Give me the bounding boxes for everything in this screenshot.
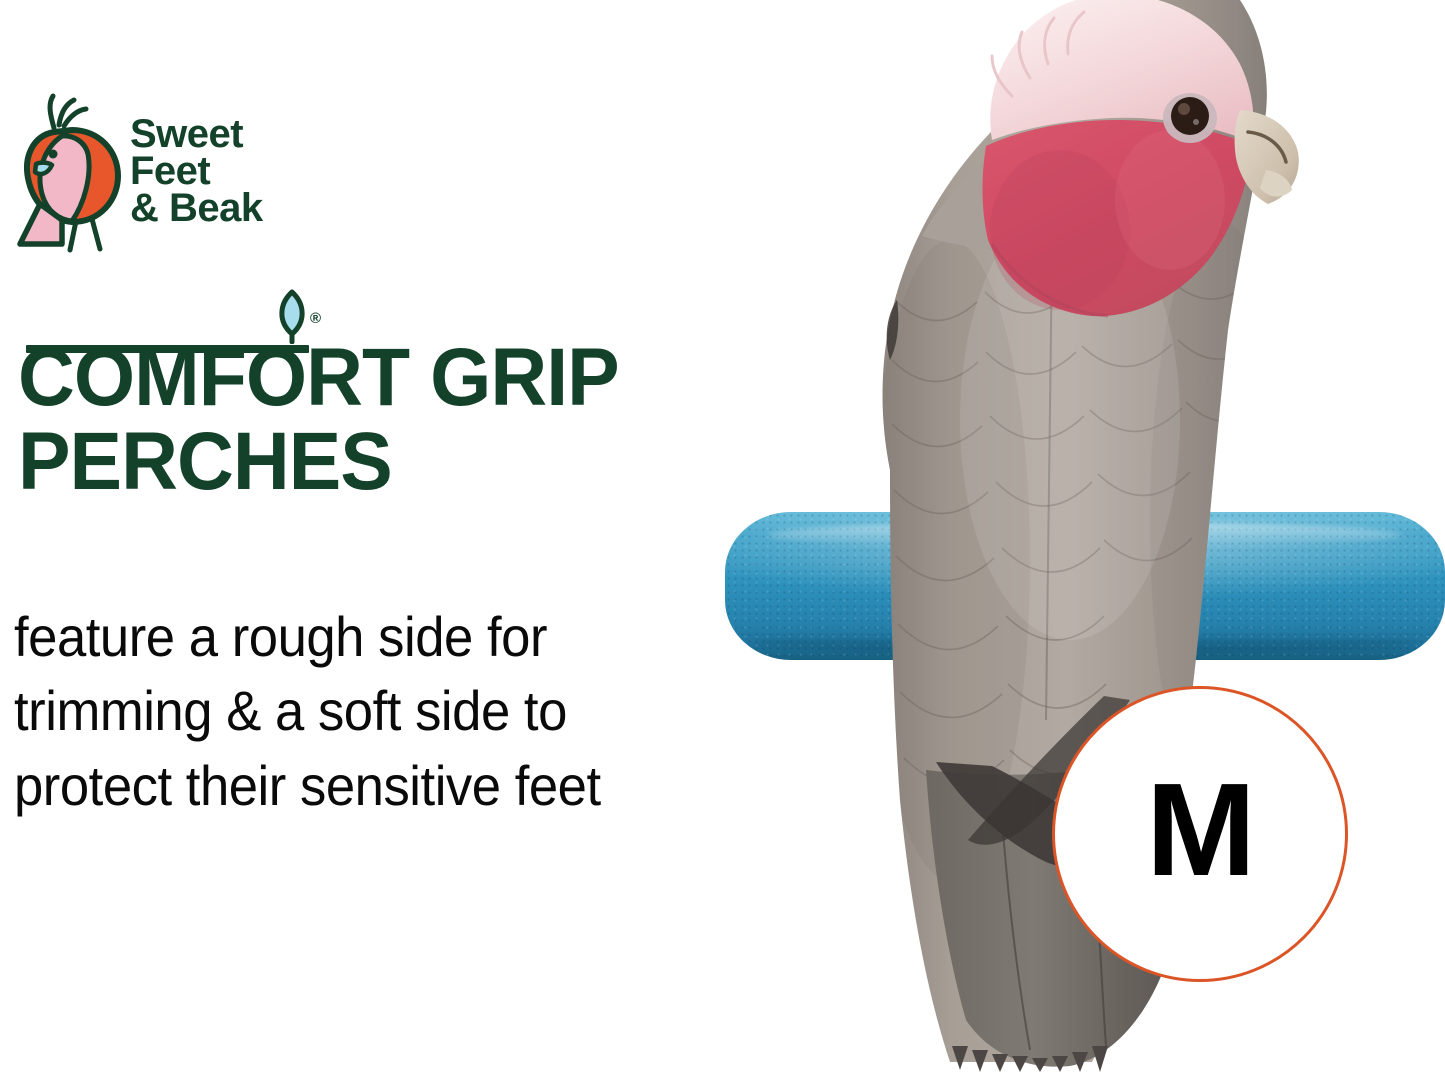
parrot-bird-logo-icon	[14, 92, 132, 270]
brand-wordmark-line-2: Feet	[130, 153, 263, 190]
size-badge: M	[1052, 686, 1348, 982]
page-title: COMFORT GRIP PERCHES	[18, 336, 786, 505]
headline-line-2: PERCHES	[18, 420, 786, 504]
galah-cockatoo-image	[700, 0, 1445, 1072]
brand-wordmark: Sweet Feet & Beak	[130, 116, 263, 226]
product-photo	[700, 0, 1445, 1072]
registered-trademark-symbol: ®	[310, 310, 321, 327]
body-copy-line-1: feature a rough side for	[14, 600, 766, 674]
body-copy: feature a rough side for trimming & a so…	[14, 600, 766, 823]
brand-wordmark-line-1: Sweet	[130, 116, 263, 153]
size-badge-label: M	[1146, 764, 1254, 896]
brand-logo: Sweet Feet & Beak ®	[14, 92, 324, 272]
brand-wordmark-line-3: & Beak	[130, 190, 263, 227]
body-copy-line-3: protect their sensitive feet	[14, 749, 766, 823]
product-marketing-image: Sweet Feet & Beak ® COMFORT GRIP PERCHES…	[0, 0, 1445, 1072]
body-copy-line-2: trimming & a soft side to	[14, 674, 766, 748]
headline-line-1: COMFORT GRIP	[18, 336, 786, 420]
